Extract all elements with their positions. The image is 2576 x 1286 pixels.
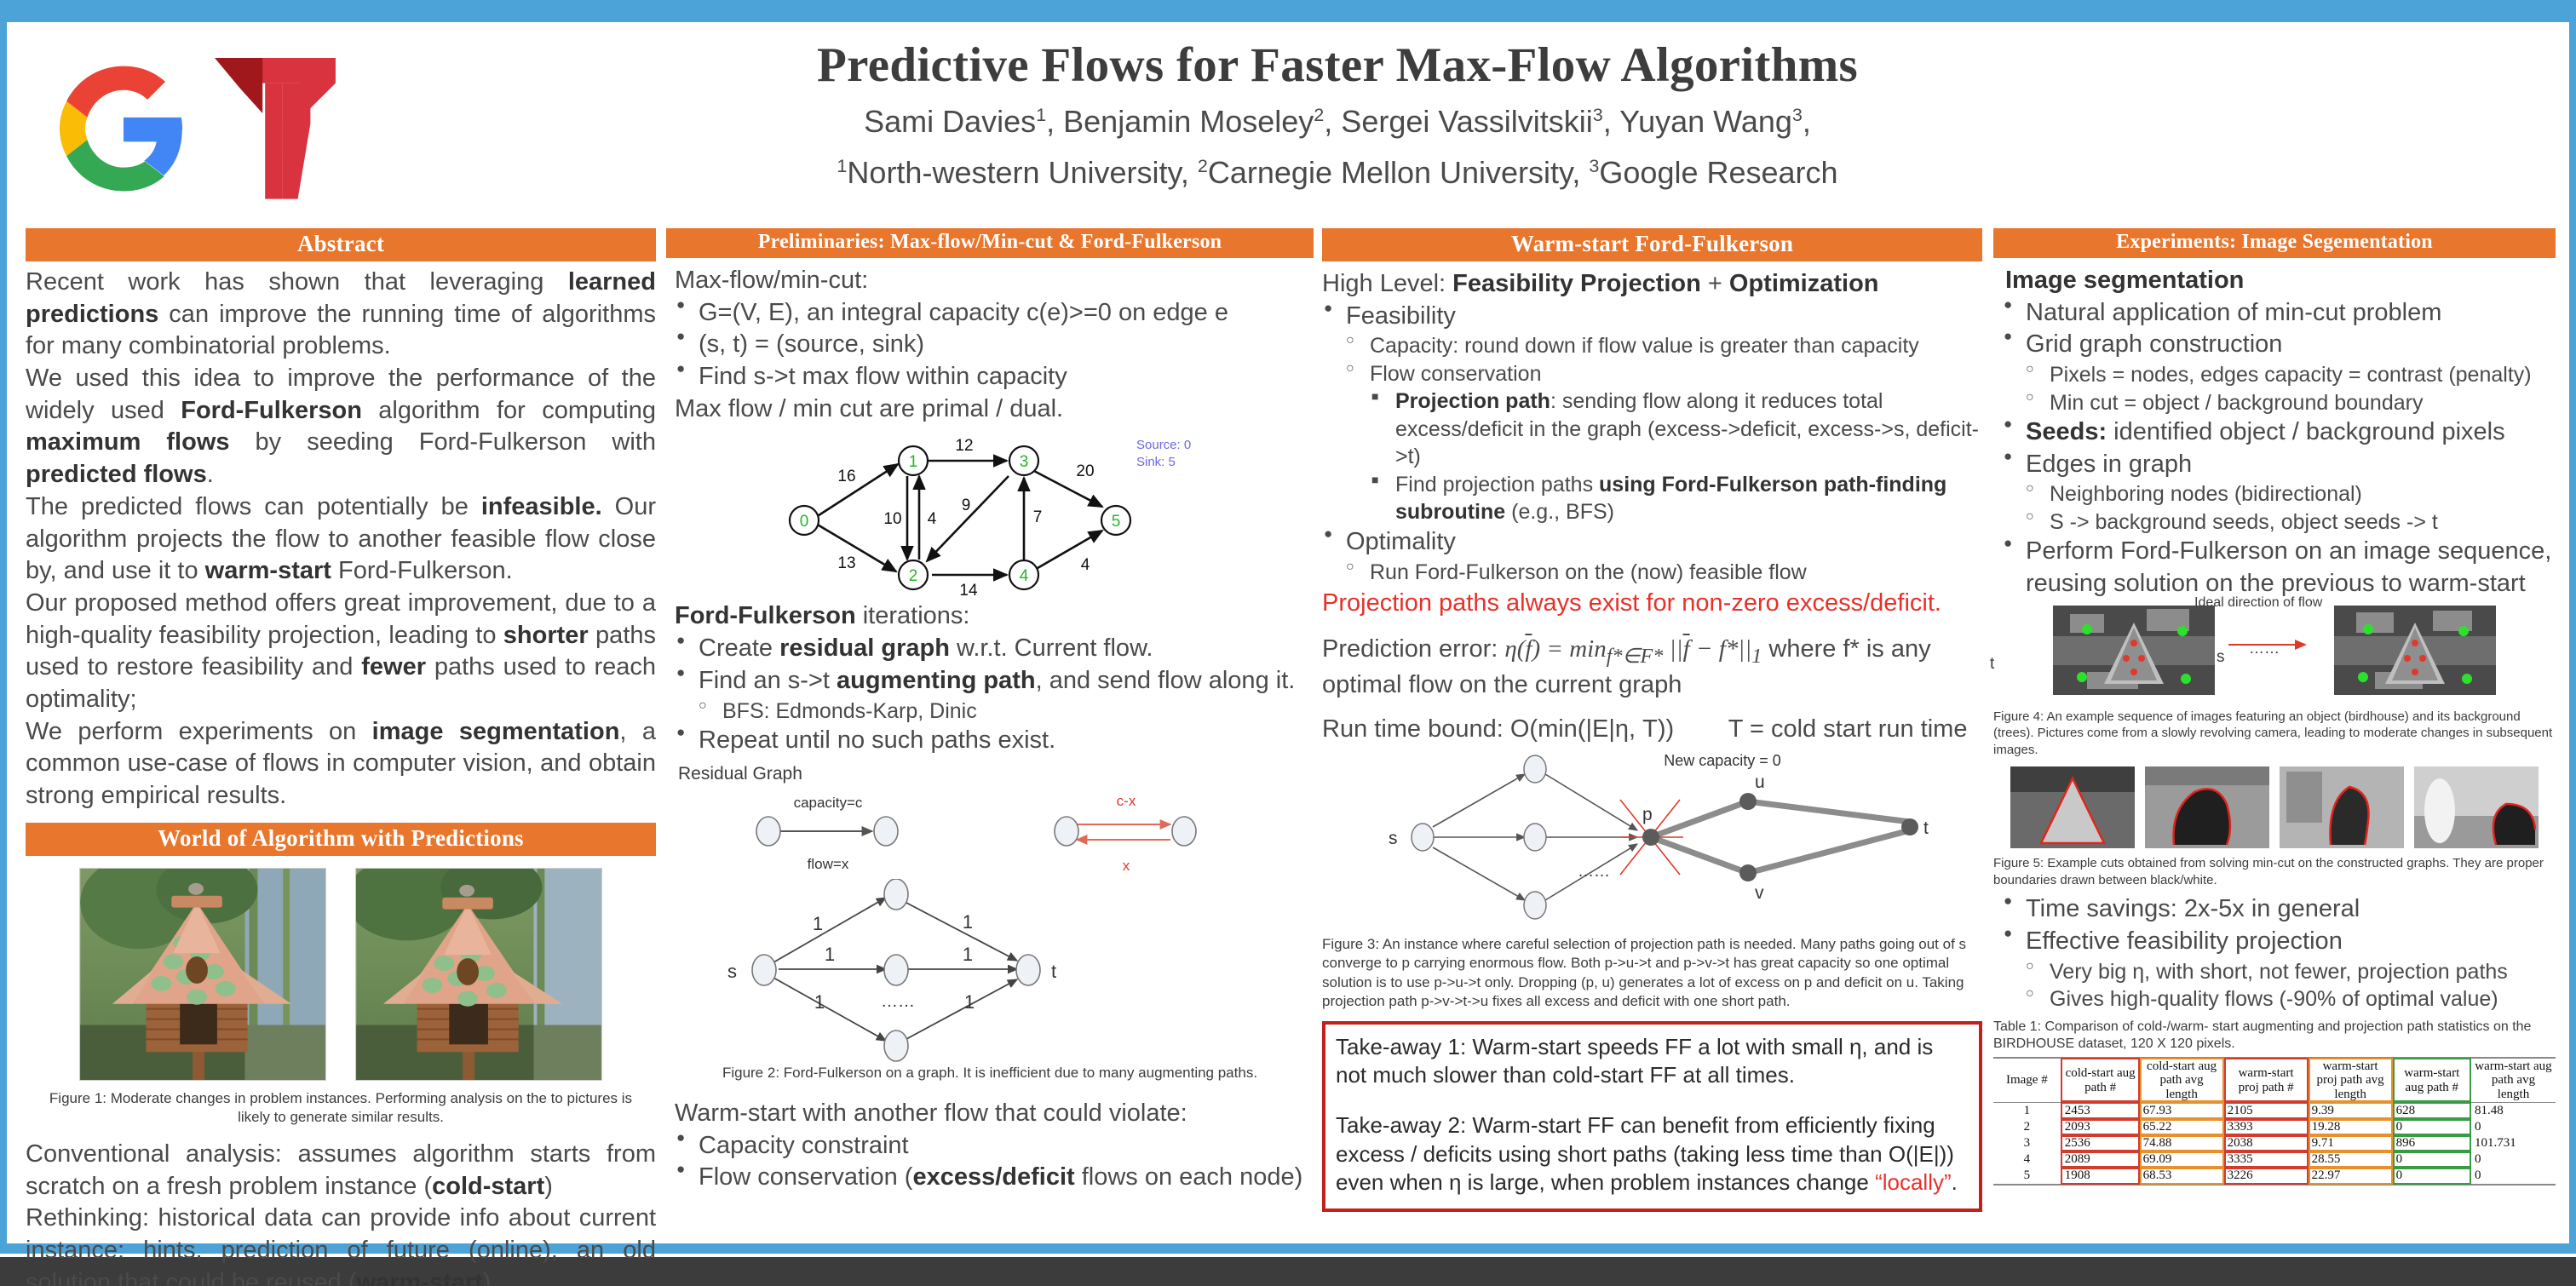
maxflow-bullet-0: G=(V, E), an integral capacity c(e)>=0 o… xyxy=(675,297,1314,330)
result-item-2: Very big η, with short, not fewer, proje… xyxy=(2002,958,2556,986)
table-cell-r2-c3: 2038 xyxy=(2224,1135,2309,1151)
svg-text:4: 4 xyxy=(1020,567,1029,585)
svg-text:1: 1 xyxy=(964,991,975,1013)
table-cell-r4-c0: 5 xyxy=(1993,1168,2061,1185)
experiments-items: Natural application of min-cut problemGr… xyxy=(1993,297,2556,600)
table-head: Image # cold-start aug path # cold-start… xyxy=(1993,1058,2556,1102)
capacity-label: capacity=c xyxy=(794,795,863,811)
closing-para-1: Rethinking: historical data can provide … xyxy=(26,1203,656,1286)
fig4-t-label: t xyxy=(1990,654,1994,675)
figure4-caption: Figure 4: An example sequence of images … xyxy=(1993,709,2556,759)
th-image: Image # xyxy=(1993,1058,2061,1102)
abstract-para-0: Recent work has shown that leveraging le… xyxy=(26,267,656,363)
top-bar xyxy=(0,0,2576,22)
ff-subbullet-bfs: BFS: Edmonds-Karp, Dinic xyxy=(675,698,1314,726)
runtime-bound: Run time bound: O(min(|E|η, T)) xyxy=(1322,715,1674,743)
results-items: Time savings: 2x-5x in generalEffective … xyxy=(1993,893,2556,1013)
result-item-1: Effective feasibility projection xyxy=(2002,926,2556,958)
svg-text:20: 20 xyxy=(1076,462,1094,480)
svg-text:4: 4 xyxy=(928,510,937,528)
fig3-t-label: t xyxy=(1923,818,1929,838)
figure3-svg: s …… p u v t New xyxy=(1322,749,1982,932)
cut-example-1 xyxy=(2010,766,2135,848)
high-level-line: High Level: Feasibility Projection + Opt… xyxy=(1322,268,1982,301)
result-item-3: Gives high-quality flows (-90% of optima… xyxy=(2002,985,2556,1013)
takeaway-2-locally: “locally” xyxy=(1875,1169,1952,1195)
warmstart-item-1: Capacity: round down if flow value is gr… xyxy=(1322,332,1982,360)
table-cell-r4-c3: 3226 xyxy=(2224,1168,2309,1185)
maxflow-title: Max-flow/min-cut: xyxy=(666,265,1314,297)
maxflow-tail: Max flow / min cut are primal / dual. xyxy=(666,393,1314,426)
ff-title-bold: Ford-Fulkerson xyxy=(675,602,856,629)
table-cell-r2-c6: 101.731 xyxy=(2471,1135,2556,1151)
svg-text:1: 1 xyxy=(963,944,973,965)
table-cell-r2-c1: 2536 xyxy=(2061,1135,2139,1151)
takeaway-2: Take-away 2: Warm-start FF can benefit f… xyxy=(1336,1111,1969,1197)
google-logo-icon xyxy=(60,65,187,192)
table-cell-r4-c5: 0 xyxy=(2393,1168,2471,1185)
experiment-item-1: Grid graph construction xyxy=(2002,329,2556,361)
projection-paths-note: Projection paths always exist for non-ze… xyxy=(1322,588,1982,620)
warmstart-bullets: Capacity constraintFlow conservation (ex… xyxy=(666,1130,1314,1194)
table-cell-r1-c2: 65.22 xyxy=(2140,1119,2224,1135)
svg-text:……: …… xyxy=(881,992,915,1011)
table-cell-r2-c0: 3 xyxy=(1993,1135,2061,1151)
warmstart-bullet-0: Capacity constraint xyxy=(675,1130,1314,1163)
table-cell-r3-c3: 3335 xyxy=(2224,1151,2309,1168)
ff-bullets: Create residual graph w.r.t. Current flo… xyxy=(666,633,1314,757)
fig4-dots: …… xyxy=(2249,639,2280,658)
poster-root: Predictive Flows for Faster Max-Flow Alg… xyxy=(0,0,2576,1286)
ff-bullet-0: Create residual graph w.r.t. Current flo… xyxy=(675,633,1314,665)
ff-bullet-1: Find an s->t augmenting path, and send f… xyxy=(675,665,1314,698)
warmstart-item-4: Find projection paths using Ford-Fulkers… xyxy=(1322,471,1982,526)
svg-text:16: 16 xyxy=(837,468,855,485)
table-cell-r0-c5: 628 xyxy=(2393,1102,2471,1119)
author-list: Sami Davies1, Benjamin Moseley2, Sergei … xyxy=(528,104,2147,140)
experiment-item-6: Neighboring nodes (bidirectional) xyxy=(2002,480,2556,508)
table1-caption: Table 1: Comparison of cold-/warm- start… xyxy=(1993,1019,2556,1054)
maxflow-bullets: G=(V, E), an integral capacity c(e)>=0 o… xyxy=(666,297,1314,393)
flow-network-svg: 0 1 2 3 4 5 16 13 12 10 4 9 7 20 14 xyxy=(751,428,1228,599)
experiment-item-7: S -> background seeds, object seeds -> t xyxy=(2002,508,2556,537)
source-label: Source: 0 xyxy=(1136,438,1191,452)
flow-label: flow=x xyxy=(808,856,849,872)
residual-graph-figure: capacity=c flow=x c-x x xyxy=(683,785,1279,879)
table-cell-r1-c5: 0 xyxy=(2393,1119,2471,1135)
table-cell-r3-c2: 69.09 xyxy=(2140,1151,2224,1168)
table-cell-r0-c6: 81.48 xyxy=(2471,1102,2556,1119)
table-row: 2209365.22339319.2800 xyxy=(1993,1119,2556,1135)
x-label: x xyxy=(1123,858,1130,874)
abstract-text: Recent work has shown that leveraging le… xyxy=(26,267,656,812)
segmentation-image-2 xyxy=(2334,606,2496,695)
th-cold-aug-len: cold-start aug path avg length xyxy=(2140,1058,2224,1102)
logo-group xyxy=(60,49,341,203)
figure2-svg: s t 1 1 1 1 1 1 …… xyxy=(683,879,1279,1062)
table-cell-r3-c1: 2089 xyxy=(2061,1151,2139,1168)
figure2-caption: Figure 2: Ford-Fulkerson on a graph. It … xyxy=(666,1064,1314,1082)
experiment-item-5: Edges in graph xyxy=(2002,449,2556,481)
cut-example-3 xyxy=(2280,766,2404,848)
abstract-para-4: We perform experiments on image segmenta… xyxy=(26,716,656,812)
th-warm-proj-len: warm-start proj path avg length xyxy=(2309,1058,2393,1102)
closing-para-0: Conventional analysis: assumes algorithm… xyxy=(26,1139,656,1203)
cut-example-4 xyxy=(2414,766,2539,848)
cut-example-2 xyxy=(2145,766,2269,848)
table-cell-r0-c4: 9.39 xyxy=(2309,1102,2393,1119)
th-warm-aug-len: warm-start aug path avg length xyxy=(2471,1058,2556,1102)
table-row: 5190868.53322622.9700 xyxy=(1993,1168,2556,1185)
table-cell-r1-c6: 0 xyxy=(2471,1119,2556,1135)
table-cell-r3-c0: 4 xyxy=(1993,1151,2061,1168)
warmstart-title: Warm-start with another flow that could … xyxy=(666,1098,1314,1130)
prediction-error-formula: η(f) = minf*∈F* ||f − f*||1 xyxy=(1504,635,1762,663)
figure5-row xyxy=(1993,766,2556,848)
table-cell-r0-c3: 2105 xyxy=(2224,1102,2309,1119)
table-body: 1245367.9321059.3962881.482209365.223393… xyxy=(1993,1102,2556,1185)
warmstart-item-0: Feasibility xyxy=(1322,301,1982,333)
table-cell-r2-c4: 9.71 xyxy=(2309,1135,2393,1151)
table-cell-r0-c0: 1 xyxy=(1993,1102,2061,1119)
image-segmentation-subtitle-text: Image segmentation xyxy=(2005,267,2244,294)
warmstart-item-2: Flow conservation xyxy=(1322,360,1982,388)
svg-text:5: 5 xyxy=(1112,513,1121,531)
svg-text:7: 7 xyxy=(1033,508,1043,526)
table-row: 1245367.9321059.3962881.48 xyxy=(1993,1102,2556,1119)
fig3-dots: …… xyxy=(1578,863,1610,881)
flow-network-figure: 0 1 2 3 4 5 16 13 12 10 4 9 7 20 14 xyxy=(666,428,1314,599)
affiliation-list: 1North-western University, 2Carnegie Mel… xyxy=(528,155,2147,191)
experiment-item-0: Natural application of min-cut problem xyxy=(2002,297,2556,330)
abstract-para-2: The predicted flows can potentially be i… xyxy=(26,491,656,588)
table-cell-r1-c0: 2 xyxy=(1993,1119,2061,1135)
svg-text:10: 10 xyxy=(883,510,901,528)
warmstart-item-5: Optimality xyxy=(1322,526,1982,559)
svg-text:9: 9 xyxy=(962,497,971,514)
column-abstract: Abstract Recent work has shown that leve… xyxy=(26,228,656,1286)
column-warmstart: Warm-start Ford-Fulkerson High Level: Fe… xyxy=(1322,228,1982,1212)
table-cell-r3-c6: 0 xyxy=(2471,1151,2556,1168)
ideal-flow-label: Ideal direction of flow xyxy=(2194,594,2322,612)
column-preliminaries: Preliminaries: Max-flow/Min-cut & Ford-F… xyxy=(666,228,1314,1194)
residual-graph-label: Residual Graph xyxy=(666,762,1314,785)
column-experiments: Experiments: Image Segementation Image s… xyxy=(1993,228,2556,1186)
warmstart-item-6: Run Ford-Fulkerson on the (now) feasible… xyxy=(1322,559,1982,587)
takeaway-2-b: . xyxy=(1952,1169,1958,1195)
ff-iterations-title: Ford-Fulkerson iterations: xyxy=(666,600,1314,633)
fig3-new-capacity-label: New capacity = 0 xyxy=(1664,752,1781,769)
segmentation-image-1 xyxy=(2053,606,2215,695)
experiment-item-2: Pixels = nodes, edges capacity = contras… xyxy=(2002,361,2556,389)
fig3-v-label: v xyxy=(1755,883,1764,903)
svg-text:3: 3 xyxy=(1020,453,1029,471)
svg-text:2: 2 xyxy=(909,567,918,585)
warmstart-items: FeasibilityCapacity: round down if flow … xyxy=(1322,301,1982,586)
fig3-s-label: s xyxy=(1389,829,1398,848)
table-cell-r4-c2: 68.53 xyxy=(2140,1168,2224,1185)
maxflow-bullet-1: (s, t) = (source, sink) xyxy=(675,329,1314,361)
table-cell-r4-c6: 0 xyxy=(2471,1168,2556,1185)
table-row: 4208969.09333528.5500 xyxy=(1993,1151,2556,1168)
maxflow-bullet-2: Find s->t max flow within capacity xyxy=(675,361,1314,393)
table-cell-r0-c2: 67.93 xyxy=(2140,1102,2224,1119)
section-header-warmstart: Warm-start Ford-Fulkerson xyxy=(1322,228,1982,261)
experiment-item-4: Seeds: identified object / background pi… xyxy=(2002,416,2556,449)
birdhouse-photo-1 xyxy=(79,868,326,1081)
svg-text:1: 1 xyxy=(963,911,973,933)
table-cell-r0-c1: 2453 xyxy=(2061,1102,2139,1119)
page-title: Predictive Flows for Faster Max-Flow Alg… xyxy=(528,37,2147,93)
fig2-s-label: s xyxy=(727,961,737,982)
table-row: 3253674.8820389.71896101.731 xyxy=(1993,1135,2556,1151)
result-item-0: Time savings: 2x-5x in general xyxy=(2002,893,2556,926)
birdhouse-photo-2 xyxy=(355,868,602,1081)
takeaway-2-a: Take-away 2: Warm-start FF can benefit f… xyxy=(1336,1112,1954,1195)
table-cell-r1-c4: 19.28 xyxy=(2309,1119,2393,1135)
abstract-para-1: We used this idea to improve the perform… xyxy=(26,363,656,491)
svg-text:1: 1 xyxy=(813,913,823,934)
section-header-preliminaries: Preliminaries: Max-flow/Min-cut & Ford-F… xyxy=(666,228,1314,258)
svg-text:1: 1 xyxy=(814,991,825,1013)
figure3-caption: Figure 3: An instance where careful sele… xyxy=(1322,935,1982,1010)
table-cell-r2-c2: 74.88 xyxy=(2140,1135,2224,1151)
figure1-caption: Figure 1: Moderate changes in problem in… xyxy=(26,1089,656,1127)
prediction-error-line: Prediction error: η(f) = minf*∈F* ||f − … xyxy=(1322,634,1982,702)
image-segmentation-subtitle: Image segmentation xyxy=(1993,265,2556,297)
t-logo-icon xyxy=(211,58,339,203)
th-warm-proj-count: warm-start proj path # xyxy=(2224,1058,2309,1102)
svg-text:1: 1 xyxy=(825,944,835,965)
table-cell-r4-c1: 1908 xyxy=(2061,1168,2139,1185)
fig4-s-label: s xyxy=(2217,647,2225,669)
warmstart-item-3: Projection path: sending flow along it r… xyxy=(1322,388,1982,471)
svg-text:12: 12 xyxy=(955,437,973,455)
table-cell-r1-c1: 2093 xyxy=(2061,1119,2139,1135)
runtime-line: Run time bound: O(min(|E|η, T)) T = cold… xyxy=(1322,714,1982,746)
sink-label: Sink: 5 xyxy=(1136,455,1176,469)
experiment-item-8: Perform Ford-Fulkerson on an image seque… xyxy=(2002,536,2556,600)
fig3-p-label: p xyxy=(1642,805,1653,824)
section-header-world: World of Algorithm with Predictions xyxy=(26,823,656,856)
svg-text:1: 1 xyxy=(909,453,918,471)
svg-text:14: 14 xyxy=(959,582,978,599)
poster-header: Predictive Flows for Faster Max-Flow Alg… xyxy=(0,26,2576,230)
table-cell-r2-c5: 896 xyxy=(2393,1135,2471,1151)
svg-text:4: 4 xyxy=(1081,556,1090,574)
table-cell-r3-c4: 28.55 xyxy=(2309,1151,2393,1168)
th-cold-aug-count: cold-start aug path # xyxy=(2061,1058,2139,1102)
figure1-images xyxy=(26,868,656,1081)
results-table: Image # cold-start aug path # cold-start… xyxy=(1993,1057,2556,1186)
table-header-row: Image # cold-start aug path # cold-start… xyxy=(1993,1058,2556,1102)
experiment-item-3: Min cut = object / background boundary xyxy=(2002,389,2556,417)
takeaway-1: Take-away 1: Warm-start speeds FF a lot … xyxy=(1336,1033,1969,1090)
ff-bullet-2: Repeat until no such paths exist. xyxy=(675,725,1314,757)
table-cell-r3-c5: 0 xyxy=(2393,1151,2471,1168)
section-header-experiments: Experiments: Image Segementation xyxy=(1993,228,2556,258)
warmstart-bullet-1: Flow conservation (excess/deficit flows … xyxy=(675,1162,1314,1194)
ff-title-rest: iterations: xyxy=(856,602,970,629)
c-minus-x-label: c-x xyxy=(1117,793,1136,809)
section-header-abstract: Abstract xyxy=(26,228,656,261)
runtime-note: T = cold start run time xyxy=(1728,715,1968,743)
cold-warm-start-text: Conventional analysis: assumes algorithm… xyxy=(26,1139,656,1286)
table-cell-r1-c3: 3393 xyxy=(2224,1119,2309,1135)
svg-text:13: 13 xyxy=(837,554,855,572)
takeaway-box: Take-away 1: Warm-start speeds FF a lot … xyxy=(1322,1021,1982,1212)
fig3-u-label: u xyxy=(1755,772,1765,792)
abstract-para-3: Our proposed method offers great improve… xyxy=(26,588,656,716)
th-warm-aug-count: warm-start aug path # xyxy=(2393,1058,2471,1102)
svg-text:0: 0 xyxy=(800,513,809,531)
table-cell-r4-c4: 22.97 xyxy=(2309,1168,2393,1185)
figure5-caption: Figure 5: Example cuts obtained from sol… xyxy=(1993,855,2556,888)
fig2-t-label: t xyxy=(1051,961,1056,982)
prediction-error-label: Prediction error: xyxy=(1322,635,1498,663)
